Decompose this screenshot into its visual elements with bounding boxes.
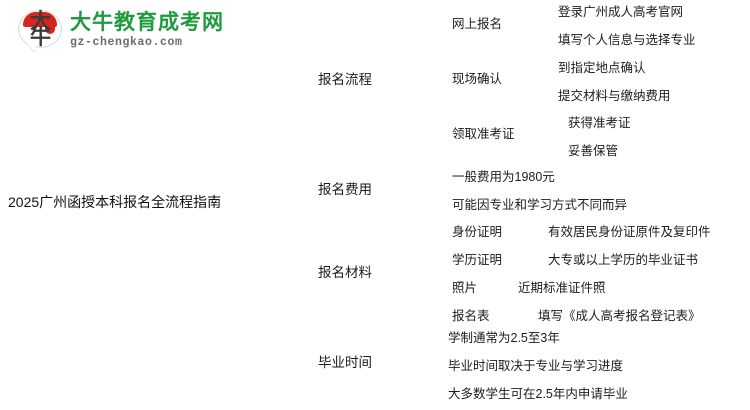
branch-4-child-3[interactable]: 大多数学生可在2.5年内申请毕业 bbox=[448, 383, 628, 402]
mindmap-root-node[interactable]: 2025广州函授本科报名全流程指南 bbox=[8, 192, 221, 212]
branch-node-4[interactable]: 毕业时间 bbox=[318, 351, 372, 371]
branch-1-child-3[interactable]: 领取准考证 bbox=[452, 123, 515, 142]
branch-3-child-2-leaf-1[interactable]: 大专或以上学历的毕业证书 bbox=[548, 249, 698, 268]
branch-1-child-2[interactable]: 现场确认 bbox=[452, 68, 502, 87]
branch-1-child-3-leaf-1[interactable]: 获得准考证 bbox=[568, 112, 631, 131]
mindmap-nodes: 2025广州函授本科报名全流程指南报名流程网上报名登录广州成人高考官网填写个人信… bbox=[0, 0, 750, 410]
branch-3-child-2[interactable]: 学历证明 bbox=[452, 249, 502, 268]
branch-3-child-3-leaf-1[interactable]: 近期标准证件照 bbox=[518, 277, 606, 296]
branch-3-child-1[interactable]: 身份证明 bbox=[452, 221, 502, 240]
branch-1-child-2-leaf-2[interactable]: 提交材料与缴纳费用 bbox=[558, 85, 671, 104]
branch-3-child-1-leaf-1[interactable]: 有效居民身份证原件及复印件 bbox=[548, 221, 711, 240]
branch-2-child-1[interactable]: 一般费用为1980元 bbox=[452, 166, 555, 185]
mindmap-canvas: 大牛 大牛教育成考网 gz-chengkao.com 2025广州函授本科报名全… bbox=[0, 0, 750, 410]
branch-3-child-4[interactable]: 报名表 bbox=[452, 305, 490, 324]
branch-4-child-1[interactable]: 学制通常为2.5至3年 bbox=[448, 327, 560, 346]
branch-3-child-3[interactable]: 照片 bbox=[452, 277, 477, 296]
branch-node-3[interactable]: 报名材料 bbox=[318, 261, 372, 281]
branch-1-child-1-leaf-1[interactable]: 登录广州成人高考官网 bbox=[558, 1, 683, 20]
branch-node-1[interactable]: 报名流程 bbox=[318, 68, 372, 88]
branch-1-child-2-leaf-1[interactable]: 到指定地点确认 bbox=[558, 57, 646, 76]
branch-1-child-1[interactable]: 网上报名 bbox=[452, 13, 502, 32]
branch-4-child-2[interactable]: 毕业时间取决于专业与学习进度 bbox=[448, 355, 623, 374]
branch-1-child-3-leaf-2[interactable]: 妥善保管 bbox=[568, 140, 618, 159]
branch-2-child-2[interactable]: 可能因专业和学习方式不同而异 bbox=[452, 194, 627, 213]
branch-3-child-4-leaf-1[interactable]: 填写《成人高考报名登记表》 bbox=[538, 305, 701, 324]
branch-1-child-1-leaf-2[interactable]: 填写个人信息与选择专业 bbox=[558, 29, 696, 48]
branch-node-2[interactable]: 报名费用 bbox=[318, 178, 372, 198]
